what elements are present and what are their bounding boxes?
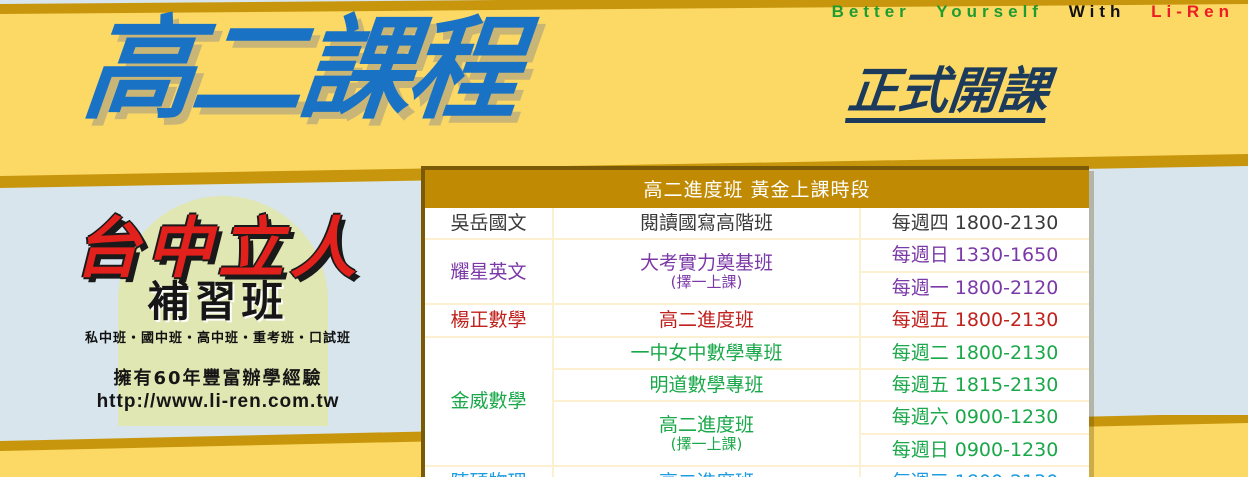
cell-teacher-subject: 金威數學 bbox=[425, 337, 553, 467]
strapline-word-liren: Li-Ren bbox=[1151, 2, 1234, 21]
strapline: Better Yourself With Li-Ren bbox=[832, 2, 1234, 22]
page-subtitle: 正式開課 bbox=[845, 66, 1051, 123]
strapline-word-with: With bbox=[1069, 2, 1126, 21]
cell-time-slot: 每週四 1800-2130 bbox=[860, 208, 1089, 239]
table-row: 耀星英文大考實力奠基班(擇一上課)每週日 1330-1650 bbox=[425, 239, 1089, 271]
cell-course-name: 明道數學專班 bbox=[553, 369, 860, 401]
cell-course-name: 高二進度班(擇一上課) bbox=[553, 401, 860, 466]
cell-time-slot: 每週五 1815-2130 bbox=[860, 369, 1089, 401]
cell-course-name: 大考實力奠基班(擇一上課) bbox=[553, 239, 860, 304]
table-row: 陳碩物理高二進度班每週三 1800-2130 bbox=[425, 466, 1089, 477]
cell-time-slot: 每週六 0900-1230 bbox=[860, 401, 1089, 433]
cell-course-name: 高二進度班 bbox=[553, 304, 860, 336]
logo-experience: 擁有60年豐富辦學經驗 bbox=[26, 364, 410, 390]
cell-time-slot: 每週三 1800-2130 bbox=[860, 466, 1089, 477]
table-row: 金威數學一中女中數學專班每週二 1800-2130 bbox=[425, 337, 1089, 369]
course-note-text: (擇一上課) bbox=[556, 274, 857, 292]
cell-teacher-subject: 耀星英文 bbox=[425, 239, 553, 304]
schedule-table-container: 高二進度班 黃金上課時段 吳岳國文閱讀國寫高階班每週四 1800-2130耀星英… bbox=[421, 166, 1089, 477]
schedule-table-header-row: 高二進度班 黃金上課時段 bbox=[425, 170, 1089, 208]
cell-time-slot: 每週五 1800-2130 bbox=[860, 304, 1089, 336]
schedule-table-title: 高二進度班 黃金上課時段 bbox=[425, 170, 1089, 208]
course-name-text: 明道數學專班 bbox=[649, 374, 763, 396]
logo-website-url: http://www.li-ren.com.tw bbox=[26, 391, 410, 413]
brand-logo: 台中立人 補習班 私中班・國中班・高中班・重考班・口試班 擁有60年豐富辦學經驗… bbox=[26, 214, 410, 413]
cell-time-slot: 每週一 1800-2120 bbox=[860, 272, 1089, 304]
table-row: 楊正數學高二進度班每週五 1800-2130 bbox=[425, 304, 1089, 336]
course-name-text: 大考實力奠基班 bbox=[640, 252, 773, 274]
course-name-text: 高二進度班 bbox=[659, 414, 754, 436]
promo-banner: Better Yourself With Li-Ren 高二課程 正式開課 台中… bbox=[0, 0, 1248, 477]
cell-course-name: 高二進度班 bbox=[553, 466, 860, 477]
course-name-text: 高二進度班 bbox=[659, 471, 754, 477]
cell-teacher-subject: 楊正數學 bbox=[425, 304, 553, 336]
schedule-table-body: 吳岳國文閱讀國寫高階班每週四 1800-2130耀星英文大考實力奠基班(擇一上課… bbox=[425, 208, 1089, 477]
strapline-word-yourself: Yourself bbox=[936, 2, 1043, 21]
cell-teacher-subject: 吳岳國文 bbox=[425, 208, 553, 239]
course-note-text: (擇一上課) bbox=[556, 436, 857, 454]
cell-course-name: 一中女中數學專班 bbox=[553, 337, 860, 369]
course-name-text: 高二進度班 bbox=[659, 309, 754, 331]
cell-course-name: 閱讀國寫高階班 bbox=[553, 208, 860, 239]
cell-teacher-subject: 陳碩物理 bbox=[425, 466, 553, 477]
table-row: 吳岳國文閱讀國寫高階班每週四 1800-2130 bbox=[425, 208, 1089, 239]
logo-class-list: 私中班・國中班・高中班・重考班・口試班 bbox=[26, 327, 410, 346]
cell-time-slot: 每週日 0900-1230 bbox=[860, 434, 1089, 466]
schedule-table: 高二進度班 黃金上課時段 吳岳國文閱讀國寫高階班每週四 1800-2130耀星英… bbox=[425, 170, 1089, 477]
course-name-text: 一中女中數學專班 bbox=[630, 342, 782, 364]
course-name-text: 閱讀國寫高階班 bbox=[640, 212, 773, 234]
logo-name: 台中立人 bbox=[26, 214, 410, 283]
cell-time-slot: 每週二 1800-2130 bbox=[860, 337, 1089, 369]
page-title: 高二課程 bbox=[78, 14, 522, 126]
cell-time-slot: 每週日 1330-1650 bbox=[860, 239, 1089, 271]
strapline-word-better: Better bbox=[832, 2, 911, 21]
